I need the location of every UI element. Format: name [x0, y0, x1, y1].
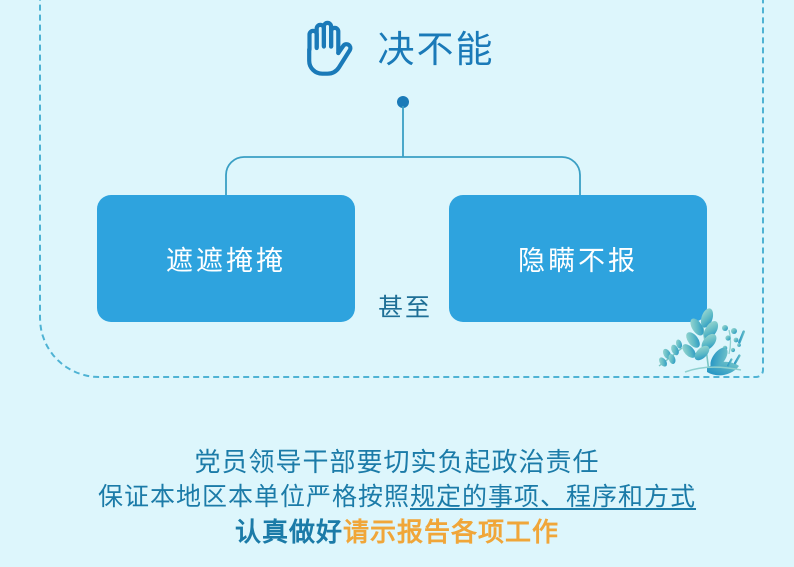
- footer-line-3-accent: 请示报告各项工作: [343, 517, 559, 547]
- footer-text-block: 党员领导干部要切实负起政治责任 保证本地区本单位严格按照规定的事项、程序和方式 …: [0, 445, 794, 550]
- root-dot: [397, 96, 409, 108]
- footer-line-3-plain: 认真做好: [235, 517, 343, 547]
- node-box-left-label: 遮遮掩掩: [166, 239, 286, 278]
- between-boxes-label: 甚至: [365, 288, 445, 324]
- node-box-right[interactable]: 隐瞒不报: [449, 195, 707, 322]
- footer-line-2-plain: 保证本地区本单位严格按照: [98, 483, 410, 511]
- footer-line-3: 认真做好请示报告各项工作: [0, 515, 794, 550]
- raised-hand-stop-icon: [300, 18, 356, 80]
- node-box-right-label: 隐瞒不报: [518, 239, 638, 278]
- node-box-left[interactable]: 遮遮掩掩: [97, 195, 355, 322]
- header: 决不能: [0, 18, 794, 80]
- connector-tree: [0, 90, 794, 210]
- footer-line-2: 保证本地区本单位严格按照规定的事项、程序和方式: [0, 480, 794, 515]
- page-title: 决不能: [378, 31, 495, 68]
- footer-line-1: 党员领导干部要切实负起政治责任: [0, 445, 794, 480]
- footer-line-2-underlined: 规定的事项、程序和方式: [410, 483, 696, 511]
- poster-canvas: 决不能 遮遮掩掩 隐瞒不报 甚至: [0, 0, 794, 567]
